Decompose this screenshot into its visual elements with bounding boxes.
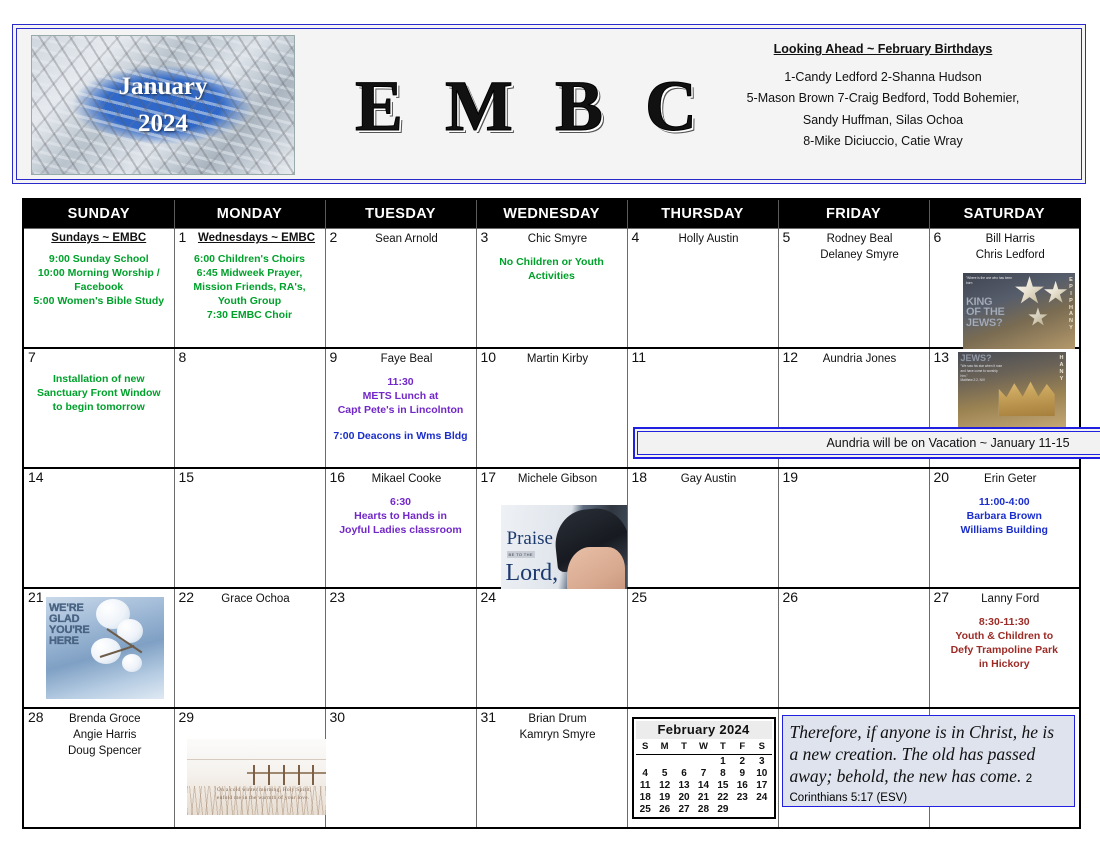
day-cell-24[interactable]: 24 (476, 588, 627, 708)
day-number-24: 24 (481, 590, 497, 605)
weekday-header-friday: FRIDAY (778, 199, 929, 229)
day-number-10: 10 (481, 350, 497, 365)
day-12-names: Aundria Jones (782, 351, 926, 368)
day-number-27: 27 (934, 590, 950, 605)
day-7-note: Installation of new Sanctuary Front Wind… (27, 373, 171, 415)
mini-wd-w: W (694, 739, 713, 755)
mini-day (733, 803, 752, 815)
mini-wd-t2: T (713, 739, 732, 755)
day-cell-25[interactable]: 25 (627, 588, 778, 708)
day-number-12: 12 (783, 350, 799, 365)
epiphany-star-side-text: E P I P H A N Y (1069, 277, 1073, 332)
day-9-deacons-note: 7:00 Deacons in Wms Bldg (329, 430, 473, 444)
day-6-names: Bill Harris Chris Ledford (933, 231, 1077, 264)
praise-line-1: Praise (507, 529, 553, 548)
day-number-30: 30 (330, 710, 346, 725)
day-cell-2[interactable]: 2 Sean Arnold (325, 229, 476, 349)
day-number-20: 20 (934, 470, 950, 485)
praise-line-3: Lord, (506, 561, 559, 585)
winter-field-image: On a cold winter morning, Holy Spirit, e… (187, 739, 339, 815)
day-number-26: 26 (783, 590, 799, 605)
day-20-note: 11:00-4:00 Barbara Brown Williams Buildi… (933, 496, 1077, 538)
day-cell-11[interactable]: 11 Aundria will be on Vacation ~ January… (627, 348, 778, 468)
birthday-line: 1-Candy Ledford 2-Shanna Hudson (713, 67, 1053, 89)
winter-fence-posts (253, 765, 320, 785)
day-20-names: Erin Geter (933, 471, 1077, 488)
mini-day: 27 (674, 803, 693, 815)
day-number-28: 28 (28, 710, 44, 725)
calendar-week-2: 7 Installation of new Sanctuary Front Wi… (23, 348, 1080, 468)
day-number-23: 23 (330, 590, 346, 605)
mini-day: 9 (733, 767, 752, 779)
mini-day: 29 (713, 803, 732, 815)
month-photo: January 2024 (31, 35, 295, 175)
wednesdays-header: Wednesdays ~ EMBC (178, 231, 322, 244)
mini-day: 6 (674, 767, 693, 779)
scripture-text: Therefore, if anyone is in Christ, he is… (790, 722, 1055, 786)
birthday-line: 8-Mike Diciuccio, Catie Wray (713, 131, 1053, 153)
day-number-13: 13 (934, 350, 950, 365)
sundays-header: Sundays ~ EMBC (27, 231, 171, 244)
day-cell-sundays-info[interactable]: Sundays ~ EMBC 9:00 Sunday School 10:00 … (23, 229, 174, 349)
day-cell-15[interactable]: 15 (174, 468, 325, 588)
day-10-names: Martin Kirby (480, 351, 624, 368)
day-cell-19[interactable]: 19 (778, 468, 929, 588)
day-31-names: Brian Drum Kamryn Smyre (480, 711, 624, 744)
day-9-names: Faye Beal (329, 351, 473, 368)
weekday-header-sunday: SUNDAY (23, 199, 174, 229)
day-number-18: 18 (632, 470, 648, 485)
epiphany-star-caption: "Where is the one who has been born (966, 276, 1012, 285)
day-28-names: Brenda Groce Angie Harris Doug Spencer (27, 711, 171, 760)
day-number-17: 17 (481, 470, 497, 485)
day-number-15: 15 (179, 470, 195, 485)
mini-wd-m: M (655, 739, 674, 755)
day-cell-5[interactable]: 5 Rodney Beal Delaney Smyre (778, 229, 929, 349)
mini-day: 1 (713, 755, 732, 768)
day-cell-6[interactable]: 6 Bill Harris Chris Ledford "Where is th… (929, 229, 1080, 349)
day-cell-30[interactable]: 30 (325, 708, 476, 828)
day-number-22: 22 (179, 590, 195, 605)
mini-calendar-week: 11 12 13 14 15 16 17 (636, 779, 772, 791)
header-banner-inner: January 2024 E M B C Looking Ahead ~ Feb… (16, 28, 1082, 180)
calendar-grid: SUNDAY MONDAY TUESDAY WEDNESDAY THURSDAY… (22, 198, 1081, 829)
vacation-banner-text: Aundria will be on Vacation ~ January 11… (637, 431, 1100, 455)
day-18-names: Gay Austin (631, 471, 775, 488)
birthdays-title: Looking Ahead ~ February Birthdays (713, 39, 1053, 61)
day-number-2: 2 (330, 230, 338, 245)
mini-wd-s2: S (752, 739, 771, 755)
day-5-names: Rodney Beal Delaney Smyre (782, 231, 926, 264)
birthday-line: 5-Mason Brown 7-Craig Bedford, Todd Bohe… (713, 88, 1053, 110)
mini-day (674, 755, 693, 768)
day-cell-9[interactable]: 9 Faye Beal 11:30 METS Lunch at Capt Pet… (325, 348, 476, 468)
scripture-quote-box: Therefore, if anyone is in Christ, he is… (782, 715, 1075, 807)
mini-day: 11 (636, 779, 655, 791)
day-number-25: 25 (632, 590, 648, 605)
day-3-note: No Children or Youth Activities (480, 256, 624, 284)
day-number-11: 11 (632, 350, 647, 365)
mini-day: 5 (655, 767, 674, 779)
day-number-8: 8 (179, 350, 187, 365)
month-label-month: January (119, 68, 208, 106)
day-number-3: 3 (481, 230, 489, 245)
weekday-header-thursday: THURSDAY (627, 199, 778, 229)
crown-shape (999, 377, 1055, 416)
mini-day: 25 (636, 803, 655, 815)
mini-day (636, 755, 655, 768)
header-banner: January 2024 E M B C Looking Ahead ~ Feb… (12, 24, 1086, 184)
mini-day: 28 (694, 803, 713, 815)
day-22-names: Grace Ochoa (178, 591, 322, 608)
weekday-header-monday: MONDAY (174, 199, 325, 229)
day-cell-27[interactable]: 27 Lanny Ford 8:30-11:30 Youth & Childre… (929, 588, 1080, 708)
sundays-schedule: 9:00 Sunday School 10:00 Morning Worship… (27, 253, 171, 309)
day-cell-14[interactable]: 14 (23, 468, 174, 588)
mini-day: 2 (733, 755, 752, 768)
day-cell-7[interactable]: 7 Installation of new Sanctuary Front Wi… (23, 348, 174, 468)
mini-day: 7 (694, 767, 713, 779)
calendar-page: January 2024 E M B C Looking Ahead ~ Feb… (0, 0, 1100, 850)
mini-day: 10 (752, 767, 771, 779)
vacation-banner: Aundria will be on Vacation ~ January 11… (633, 427, 1100, 459)
epiphany-crown-image: JEWS? "We saw his star when it rose and … (958, 352, 1066, 430)
mini-calendar-week: 4 5 6 7 8 9 10 (636, 767, 772, 779)
epiphany-star-image: "Where is the one who has been born KING… (963, 273, 1075, 351)
day-cell-21[interactable]: 21 WE'RE GLAD YOU'RE HERE (23, 588, 174, 708)
mini-calendar-week: 18 19 20 21 22 23 24 (636, 791, 772, 803)
mini-calendar-header-row: S M T W T F S (636, 739, 772, 755)
mini-day: 18 (636, 791, 655, 803)
epiphany-crown-caption: "We saw his star when it rose and have c… (961, 364, 1003, 383)
day-cell-3[interactable]: 3 Chic Smyre No Children or Youth Activi… (476, 229, 627, 349)
weekday-header-saturday: SATURDAY (929, 199, 1080, 229)
day-cell-20[interactable]: 20 Erin Geter 11:00-4:00 Barbara Brown W… (929, 468, 1080, 588)
mini-calendar-cell[interactable]: February 2024 S M T W T F (627, 708, 778, 828)
mini-calendar-table: S M T W T F S (636, 739, 772, 815)
day-cell-28[interactable]: 28 Brenda Groce Angie Harris Doug Spence… (23, 708, 174, 828)
day-cell-1[interactable]: 1 Wednesdays ~ EMBC 6:00 Children's Choi… (174, 229, 325, 349)
mini-calendar-week: 1 2 3 (636, 755, 772, 768)
month-label-year: 2024 (138, 105, 188, 143)
mini-day: 20 (674, 791, 693, 803)
wednesdays-schedule: 6:00 Children's Choirs 6:45 Midweek Pray… (178, 253, 322, 323)
day-cell-31[interactable]: 31 Brian Drum Kamryn Smyre (476, 708, 627, 828)
day-number-7: 7 (28, 350, 36, 365)
day-2-names: Sean Arnold (329, 231, 473, 248)
mini-day: 16 (733, 779, 752, 791)
calendar-week-5: 28 Brenda Groce Angie Harris Doug Spence… (23, 708, 1080, 828)
day-cell-16[interactable]: 16 Mikael Cooke 6:30 Hearts to Hands in … (325, 468, 476, 588)
mini-day (752, 803, 771, 815)
epiphany-crown-side-text: H A N Y (1060, 355, 1064, 383)
mini-day: 13 (674, 779, 693, 791)
epiphany-crown-headline: JEWS? (961, 353, 992, 363)
mini-day: 15 (713, 779, 732, 791)
calendar-week-1: Sundays ~ EMBC 9:00 Sunday School 10:00 … (23, 229, 1080, 349)
mini-calendar-title: February 2024 (636, 721, 772, 739)
mini-day: 14 (694, 779, 713, 791)
day-17-names: Michele Gibson (480, 471, 624, 488)
day-4-names: Holly Austin (631, 231, 775, 248)
day-number-1: 1 (179, 230, 187, 245)
day-cell-18[interactable]: 18 Gay Austin (627, 468, 778, 588)
epiphany-star-headline: KING OF THE JEWS? (966, 297, 1005, 328)
birthdays-block: Looking Ahead ~ February Birthdays 1-Can… (713, 39, 1053, 153)
mini-day: 12 (655, 779, 674, 791)
mini-day: 22 (713, 791, 732, 803)
day-number-19: 19 (783, 470, 799, 485)
mini-calendar-week: 25 26 27 28 29 (636, 803, 772, 815)
day-number-5: 5 (783, 230, 791, 245)
day-number-21: 21 (28, 590, 44, 605)
mini-wd-s1: S (636, 739, 655, 755)
birthday-line: Sandy Huffman, Silas Ochoa (713, 110, 1053, 132)
church-title: E M B C (317, 65, 747, 148)
winter-horizon (187, 759, 339, 761)
day-number-31: 31 (481, 710, 497, 725)
weekday-header-row: SUNDAY MONDAY TUESDAY WEDNESDAY THURSDAY… (23, 199, 1080, 229)
mini-day: 24 (752, 791, 771, 803)
day-number-16: 16 (330, 470, 346, 485)
calendar-week-4: 21 WE'RE GLAD YOU'RE HERE (23, 588, 1080, 708)
day-16-names: Mikael Cooke (329, 471, 473, 488)
february-mini-calendar: February 2024 S M T W T F (632, 717, 776, 819)
day-cell-23[interactable]: 23 (325, 588, 476, 708)
mini-day: 4 (636, 767, 655, 779)
day-3-names: Chic Smyre (480, 231, 624, 248)
winter-image-caption: On a cold winter morning, Holy Spirit, e… (217, 787, 333, 802)
welcome-image: WE'RE GLAD YOU'RE HERE (46, 597, 164, 699)
day-cell-22[interactable]: 22 Grace Ochoa (174, 588, 325, 708)
scripture-cell[interactable]: Therefore, if anyone is in Christ, he is… (778, 708, 929, 828)
day-number-6: 6 (934, 230, 942, 245)
day-cell-29[interactable]: 29 On a cold winter morning, Holy Spirit… (174, 708, 325, 828)
mini-day: 23 (733, 791, 752, 803)
day-9-mets-note: 11:30 METS Lunch at Capt Pete's in Linco… (329, 376, 473, 418)
day-number-29: 29 (179, 710, 195, 725)
mini-day: 17 (752, 779, 771, 791)
day-cell-8[interactable]: 8 (174, 348, 325, 468)
weekday-header-tuesday: TUESDAY (325, 199, 476, 229)
day-cell-26[interactable]: 26 (778, 588, 929, 708)
mini-day: 8 (713, 767, 732, 779)
calendar-week-3: 14 15 16 Mikael Cooke 6:30 Hearts to Han… (23, 468, 1080, 588)
mini-day: 3 (752, 755, 771, 768)
weekday-header-wednesday: WEDNESDAY (476, 199, 627, 229)
day-27-note: 8:30-11:30 Youth & Children to Defy Tram… (933, 616, 1077, 672)
mini-wd-f: F (733, 739, 752, 755)
day-cell-10[interactable]: 10 Martin Kirby (476, 348, 627, 468)
mini-day (655, 755, 674, 768)
day-number-4: 4 (632, 230, 640, 245)
day-cell-17[interactable]: 17 Michele Gibson Praise BE TO THE Lord,… (476, 468, 627, 588)
day-cell-4[interactable]: 4 Holly Austin (627, 229, 778, 349)
mini-day (694, 755, 713, 768)
mini-day: 21 (694, 791, 713, 803)
day-27-names: Lanny Ford (933, 591, 1077, 608)
mini-day: 26 (655, 803, 674, 815)
praise-line-2: BE TO THE (507, 551, 536, 558)
day-number-9: 9 (330, 350, 338, 365)
day-16-note: 6:30 Hearts to Hands in Joyful Ladies cl… (329, 496, 473, 538)
mini-wd-t1: T (674, 739, 693, 755)
welcome-image-text: WE'RE GLAD YOU'RE HERE (49, 603, 90, 647)
mini-day: 19 (655, 791, 674, 803)
day-number-14: 14 (28, 470, 44, 485)
